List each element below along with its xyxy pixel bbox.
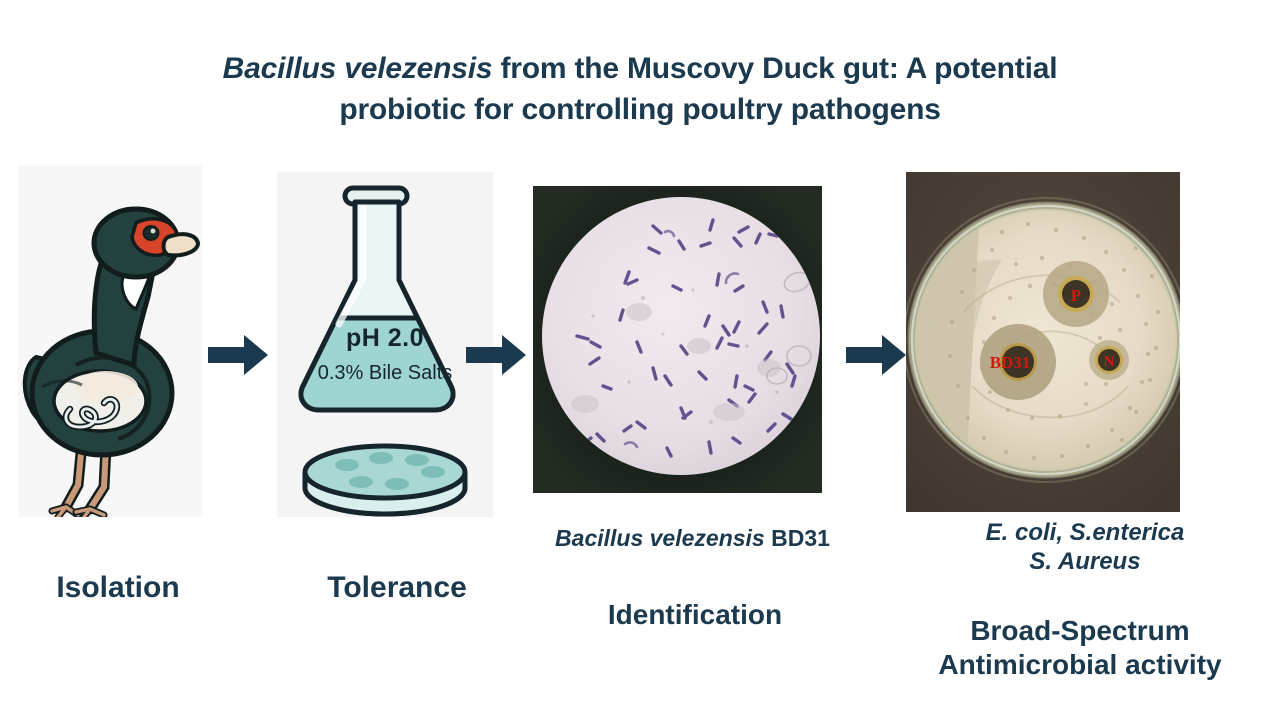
panel-tolerance: pH 2.0 0.3% Bile Salts [277, 172, 493, 517]
pathogens-line2: S. Aureus [1029, 548, 1140, 575]
well-p: P [1043, 261, 1109, 327]
graphical-abstract: Bacillus velezensis from the Muscovy Duc… [0, 0, 1280, 720]
arrow-isolation-to-tolerance [208, 333, 270, 377]
strain-species: Bacillus velezensis [555, 525, 765, 551]
panel-isolation [18, 165, 202, 517]
panel-identification [533, 186, 822, 493]
caption-identification: Identification [540, 598, 850, 632]
svg-text:BD31: BD31 [990, 353, 1031, 372]
muscovy-duck-illustration [18, 165, 202, 517]
arrow-tolerance-to-identification [466, 333, 528, 377]
well-bd31: BD31 [980, 324, 1056, 400]
title-species: Bacillus velezensis [223, 52, 493, 85]
strain-code: BD31 [765, 525, 830, 551]
caption-tolerance: Tolerance [282, 570, 512, 607]
activity-line2: Antimicrobial activity [938, 649, 1221, 680]
caption-antimicrobial-activity: Broad-Spectrum Antimicrobial activity [880, 614, 1280, 682]
caption-isolation: Isolation [10, 570, 226, 607]
activity-line1: Broad-Spectrum [970, 615, 1189, 646]
flask-bile-label: 0.3% Bile Salts [277, 362, 493, 385]
panel-antimicrobial: P BD31 N [906, 172, 1180, 512]
caption-strain-name: Bacillus velezensis BD31 [520, 524, 865, 552]
caption-pathogens: E. coli, S.enterica S. Aureus [890, 518, 1280, 577]
title-rest: from the Muscovy Duck gut: A potential [492, 52, 1057, 85]
arrow-identification-to-antimicrobial [846, 333, 908, 377]
page-title: Bacillus velezensis from the Muscovy Duc… [120, 48, 1160, 131]
well-n: N [1089, 340, 1129, 380]
svg-text:N: N [1104, 354, 1115, 370]
agar-well-diffusion-plate: P BD31 N [906, 172, 1180, 512]
svg-text:P: P [1071, 286, 1081, 305]
gram-stain-micrograph [533, 186, 822, 493]
flask-ph-label: pH 2.0 [277, 324, 493, 353]
title-line2: probiotic for controlling poultry pathog… [339, 93, 940, 126]
pathogens-line1: E. coli, S.enterica [986, 519, 1185, 546]
